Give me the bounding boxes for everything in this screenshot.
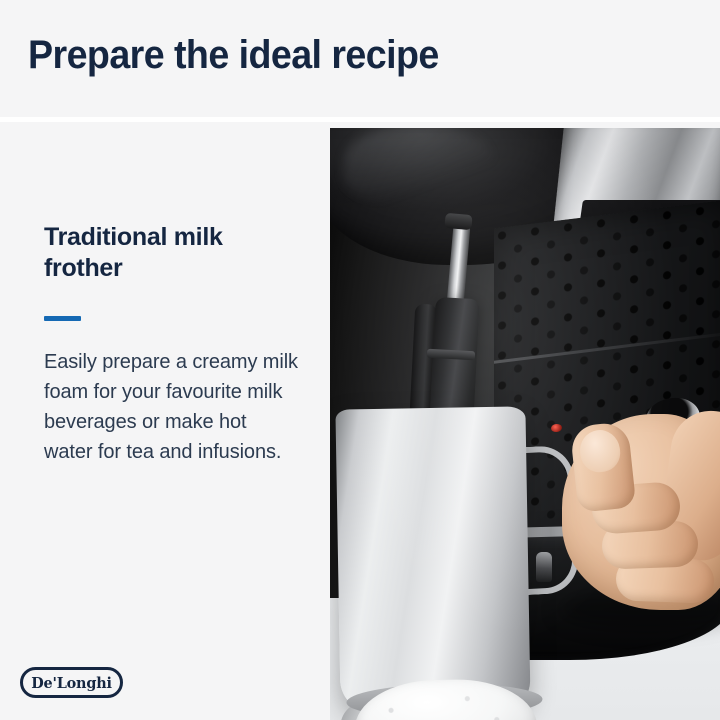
- brand-logo: De'Longhi: [20, 667, 123, 698]
- page-title: Prepare the ideal recipe: [28, 33, 439, 78]
- promo-page: Prepare the ideal recipe Traditional mil…: [0, 0, 720, 720]
- milk-pitcher: De'Longhi: [335, 406, 530, 709]
- frother-collar: [444, 213, 472, 230]
- milk-foam: [354, 678, 537, 720]
- foam-texture: [354, 678, 537, 720]
- feature-text-column: Traditional milk frother Easily prepare …: [0, 122, 330, 720]
- feature-title: Traditional milk frother: [44, 222, 294, 284]
- product-photo: De'Longhi: [330, 128, 720, 720]
- feature-description: Easily prepare a creamy milk foam for yo…: [44, 347, 300, 467]
- brand-logo-text: De'Longhi: [25, 670, 118, 695]
- page-header: Prepare the ideal recipe: [0, 0, 720, 117]
- hood-highlight: [344, 128, 494, 204]
- accent-rule: [44, 316, 81, 321]
